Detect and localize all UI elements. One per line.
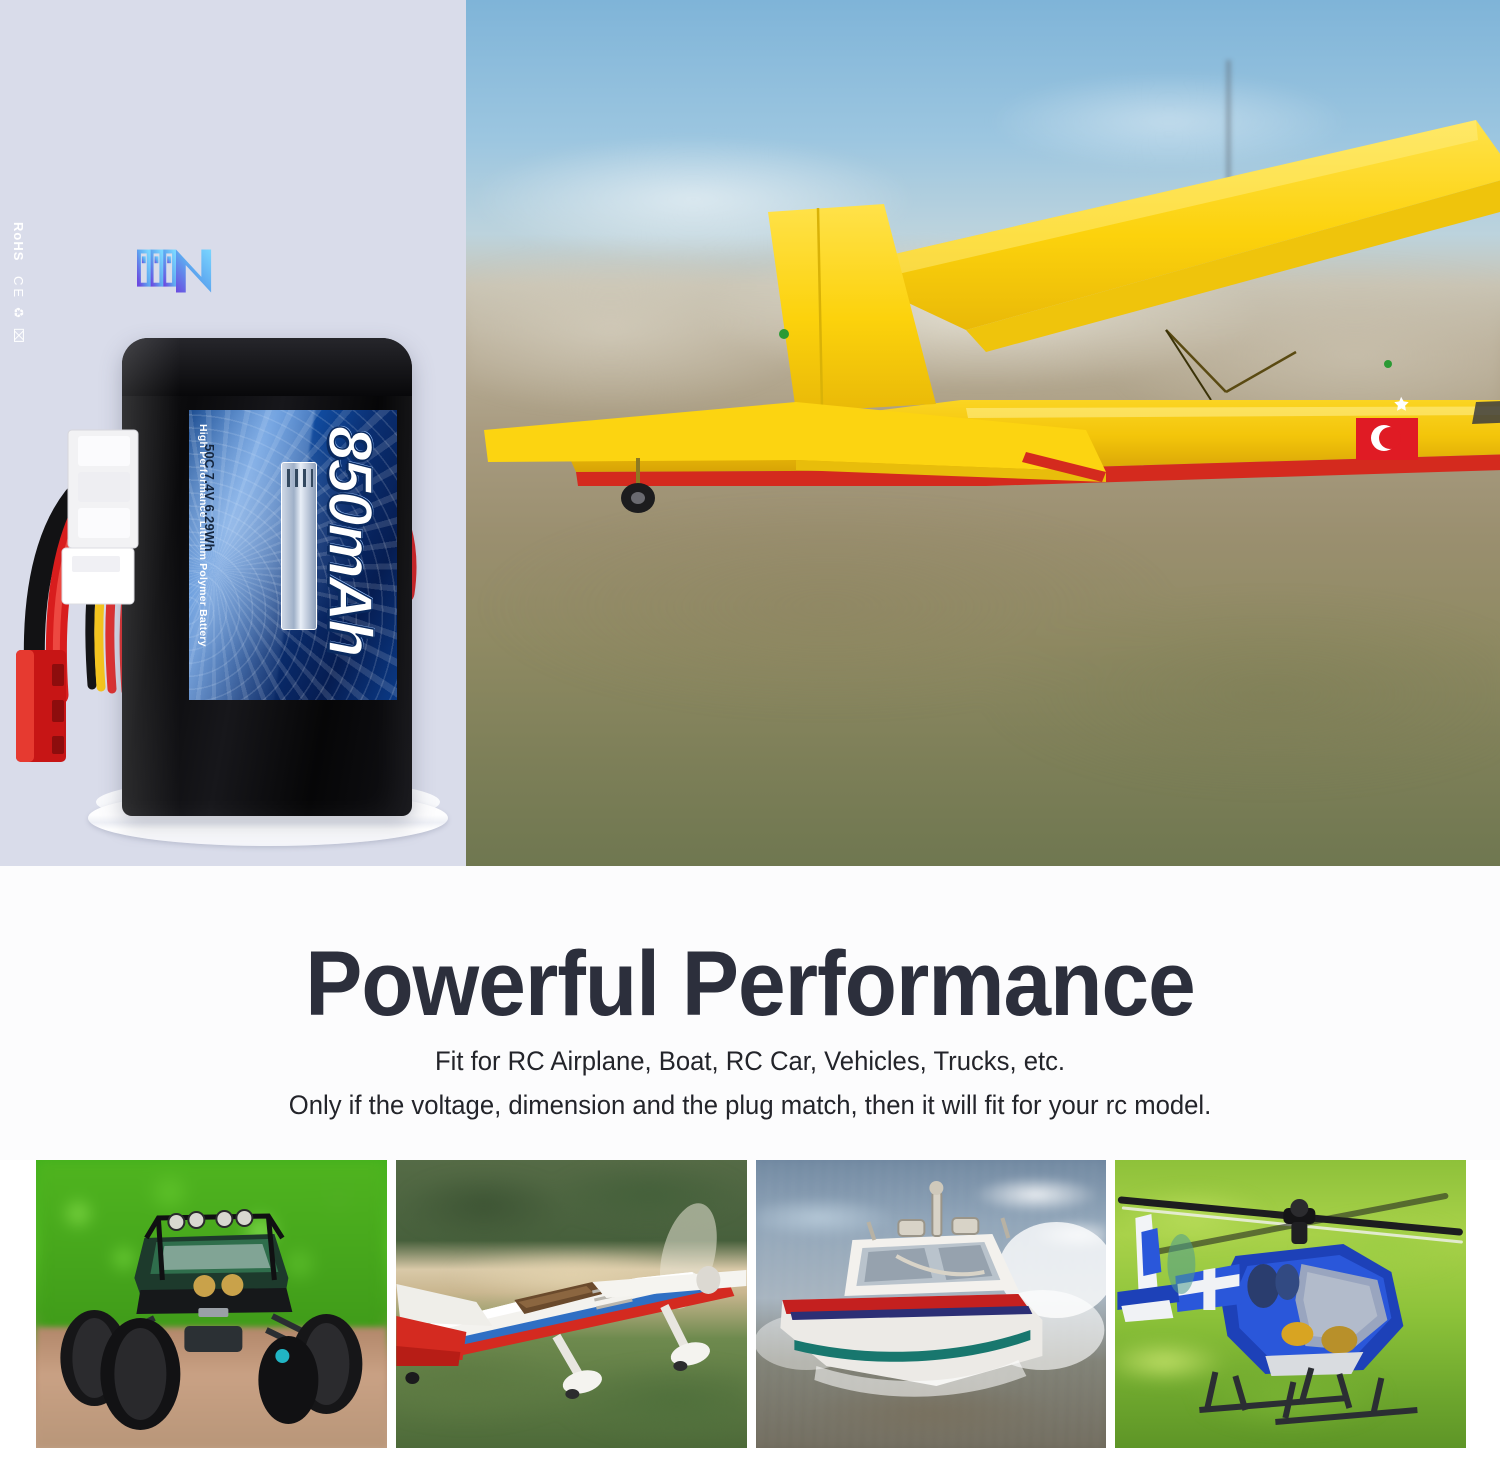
subtitle-compatibility: Fit for RC Airplane, Boat, RC Car, Vehic… <box>38 1046 1463 1077</box>
subtitle-fit-notice: Only if the voltage, dimension and the p… <box>38 1090 1463 1121</box>
page-title: Powerful Performance <box>53 938 1448 1030</box>
hero-rc-airplane-photo <box>466 0 1500 866</box>
thumbnail-rc-helicopter[interactable] <box>1115 1160 1466 1448</box>
rc-speedboat-illustration <box>756 1160 1107 1448</box>
thumbnail-rc-airplane[interactable] <box>396 1160 747 1448</box>
thumbnail-rc-monster-truck[interactable] <box>36 1160 387 1448</box>
marketing-copy-section: Powerful Performance Fit for RC Airplane… <box>0 866 1500 1160</box>
thumbnail-rc-boat[interactable] <box>756 1160 1107 1448</box>
monster-truck-illustration <box>36 1160 387 1448</box>
application-thumbnail-row <box>36 1160 1466 1448</box>
rc-airplane-illustration <box>466 0 1500 866</box>
rc-aerobatic-plane-illustration <box>396 1160 747 1448</box>
battery-product-panel: High Performance Lithium Polymer Battery… <box>0 0 466 866</box>
battery-connectors <box>0 0 466 866</box>
rc-helicopter-illustration <box>1115 1160 1466 1448</box>
hero-band: High Performance Lithium Polymer Battery… <box>0 0 1500 866</box>
